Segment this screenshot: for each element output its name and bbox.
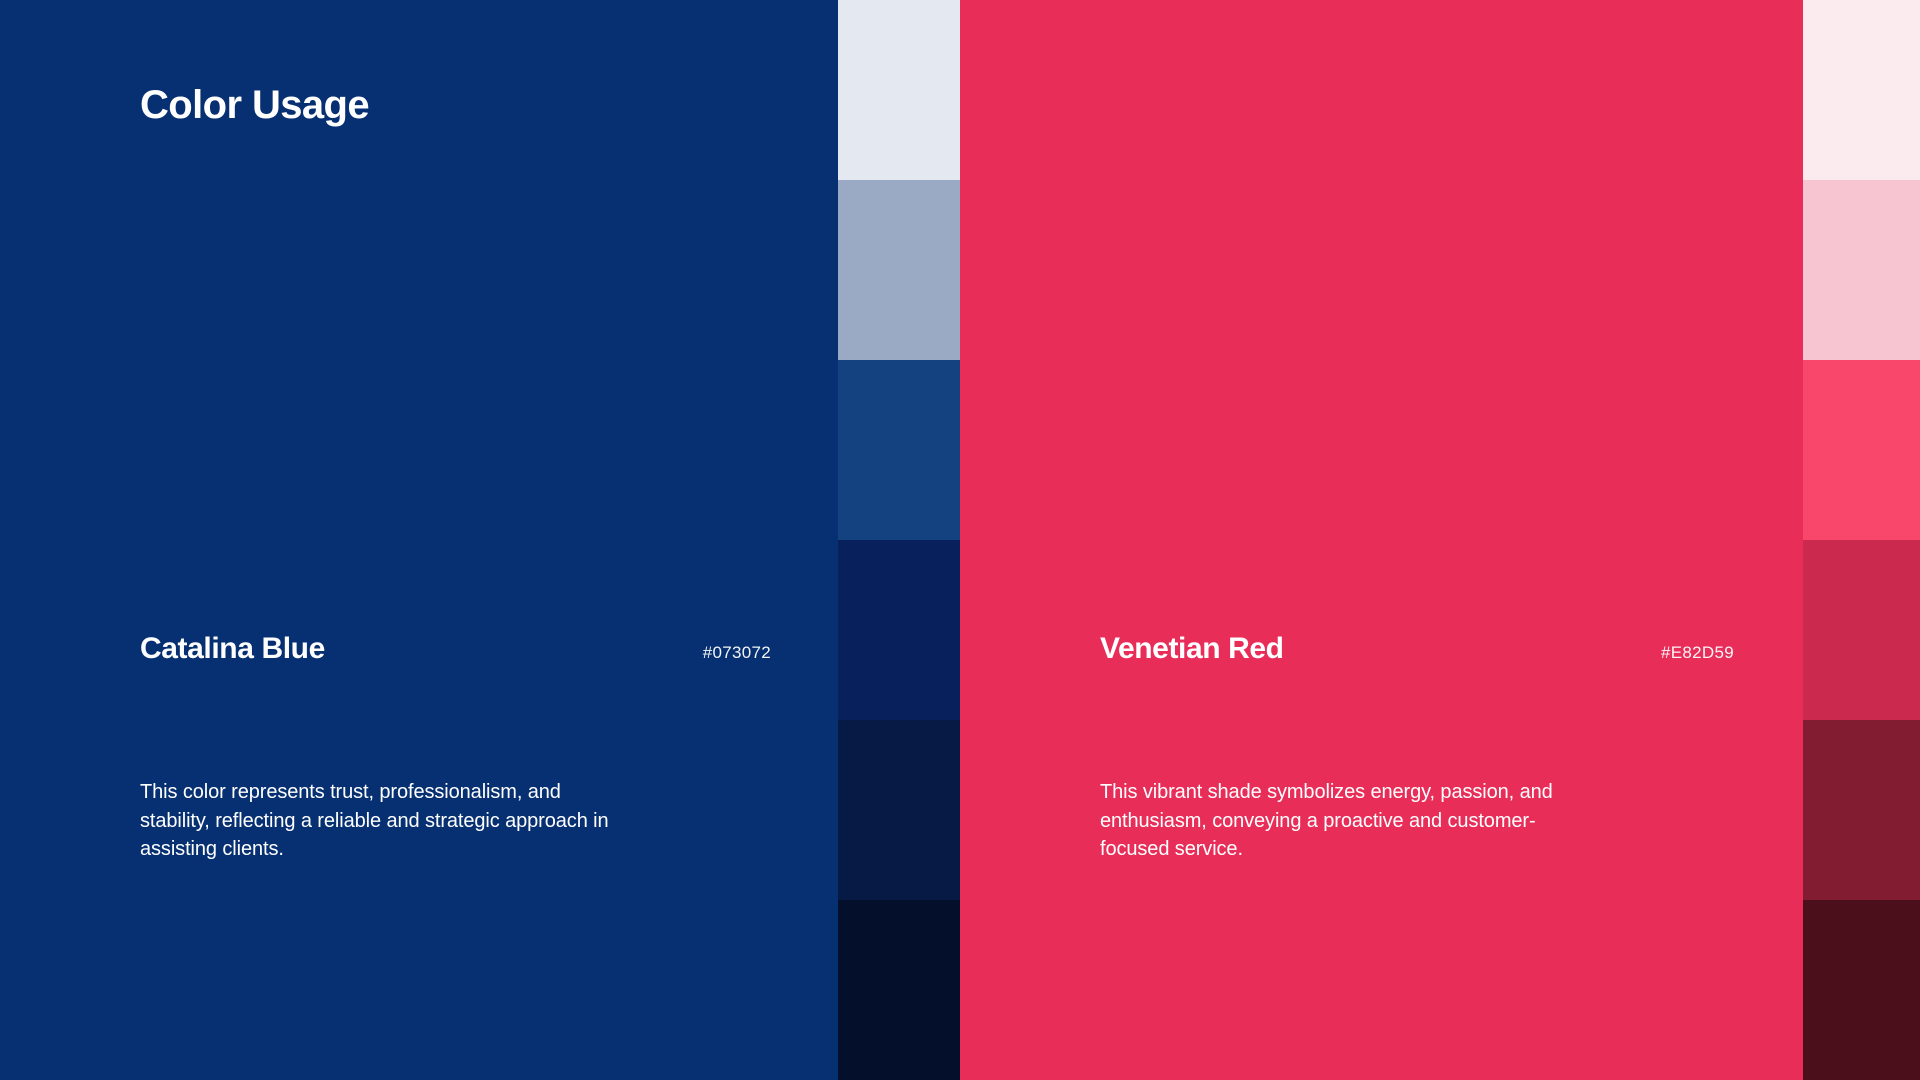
swatch-shade-20 [1803,540,1920,720]
color-hex-catalina-blue: #073072 [703,643,771,663]
swatch-column-venetian-red [1803,0,1920,1080]
color-name-row-catalina-blue: Catalina Blue #073072 [140,632,771,666]
swatch-shade-20 [838,540,960,720]
swatch-tint-20 [838,360,960,540]
swatch-shade-40 [838,720,960,900]
page-title: Color Usage [140,83,369,127]
color-hex-venetian-red: #E82D59 [1661,643,1734,663]
swatch-tint-100 [1803,0,1920,180]
swatch-tint-60 [838,180,960,360]
color-name-venetian-red: Venetian Red [1100,632,1284,666]
color-name-catalina-blue: Catalina Blue [140,632,325,666]
color-name-row-venetian-red: Venetian Red #E82D59 [1100,632,1734,666]
swatch-shade-60 [1803,900,1920,1080]
color-block-catalina-blue: Color Usage Catalina Blue #073072 This c… [0,0,960,1080]
swatch-tint-60 [1803,180,1920,360]
color-description-catalina-blue: This color represents trust, professiona… [140,778,610,864]
color-description-venetian-red: This vibrant shade symbolizes energy, pa… [1100,778,1570,864]
swatch-shade-60 [838,900,960,1080]
swatch-tint-20 [1803,360,1920,540]
swatch-column-catalina-blue [838,0,960,1080]
color-usage-page: Color Usage Catalina Blue #073072 This c… [0,0,1920,1080]
swatch-shade-40 [1803,720,1920,900]
color-block-venetian-red: Venetian Red #E82D59 This vibrant shade … [960,0,1920,1080]
swatch-tint-100 [838,0,960,180]
color-panel-catalina-blue: Color Usage Catalina Blue #073072 This c… [0,0,838,1080]
color-panel-venetian-red: Venetian Red #E82D59 This vibrant shade … [960,0,1803,1080]
